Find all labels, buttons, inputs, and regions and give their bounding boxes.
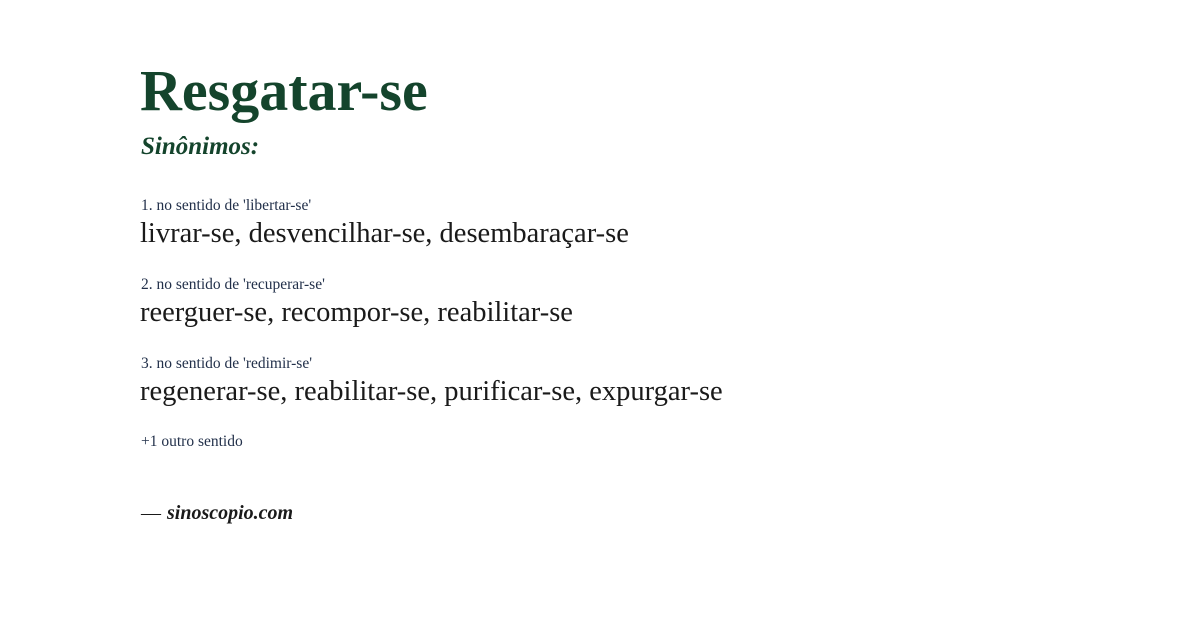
page-title: Resgatar-se	[140, 62, 1160, 120]
sense-label: 1. no sentido de 'libertar-se'	[141, 197, 1160, 214]
card-content: Resgatar-se Sinônimos: 1. no sentido de …	[140, 62, 1160, 524]
sense-synonyms: reerguer-se, recompor-se, reabilitar-se	[140, 297, 1160, 330]
sense-synonyms: livrar-se, desvencilhar-se, desembaraçar…	[140, 218, 1160, 251]
sense-label: 3. no sentido de 'redimir-se'	[141, 355, 1160, 372]
sense-label: 2. no sentido de 'recuperar-se'	[141, 276, 1160, 293]
more-senses-note: +1 outro sentido	[141, 433, 1160, 450]
synonyms-subtitle: Sinônimos:	[141, 134, 1160, 159]
sense-synonyms: regenerar-se, reabilitar-se, purificar-s…	[140, 376, 1160, 409]
sense-block: 2. no sentido de 'recuperar-se' reerguer…	[140, 276, 1160, 330]
sense-block: 1. no sentido de 'libertar-se' livrar-se…	[140, 197, 1160, 251]
em-dash-icon: —	[141, 502, 161, 524]
sense-block: 3. no sentido de 'redimir-se' regenerar-…	[140, 355, 1160, 409]
sense-list: 1. no sentido de 'libertar-se' livrar-se…	[140, 197, 1160, 408]
attribution: —sinoscopio.com	[141, 502, 1160, 524]
synonym-card: Resgatar-se Sinônimos: 1. no sentido de …	[0, 0, 1200, 628]
attribution-source: sinoscopio.com	[167, 502, 293, 524]
